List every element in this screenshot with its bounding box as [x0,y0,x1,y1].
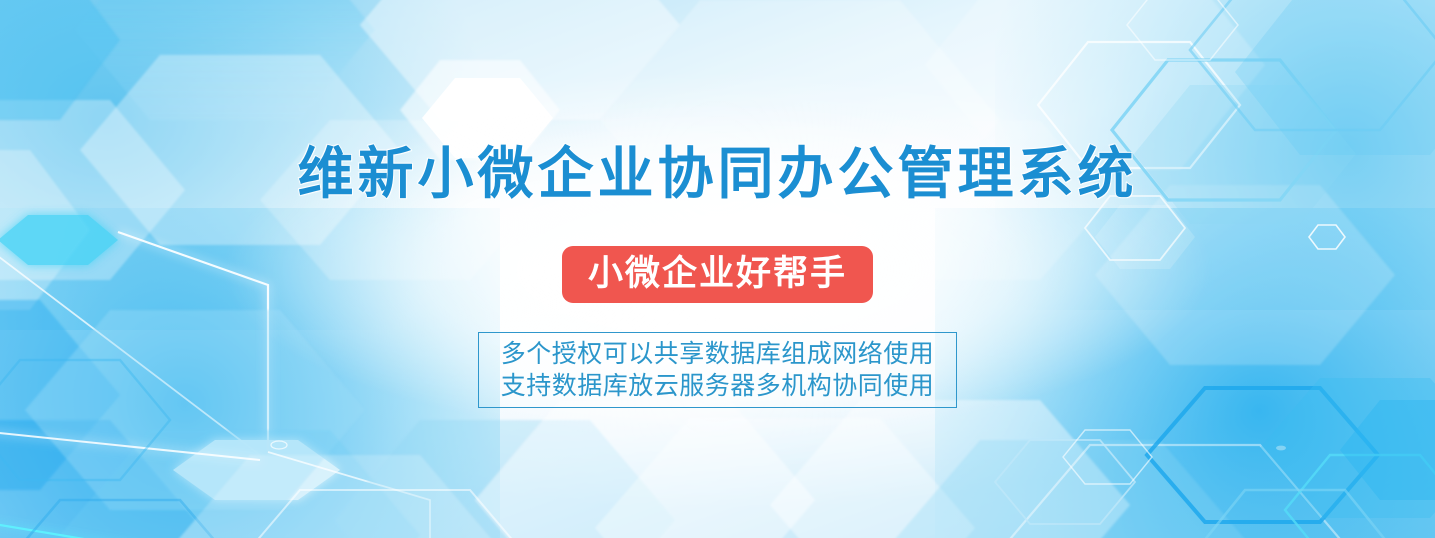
description-line-2: 支持数据库放云服务器多机构协同使用 [501,370,935,402]
banner-content: 维新小微企业协同办公管理系统 小微企业好帮手 多个授权可以共享数据库组成网络使用… [0,0,1435,538]
page-title: 维新小微企业协同办公管理系统 [0,142,1435,206]
description-row: 多个授权可以共享数据库组成网络使用 支持数据库放云服务器多机构协同使用 [0,332,1435,408]
tagline-badge: 小微企业好帮手 [562,246,873,303]
hero-banner: 维新小微企业协同办公管理系统 小微企业好帮手 多个授权可以共享数据库组成网络使用… [0,0,1435,538]
tagline-badge-row: 小微企业好帮手 [0,246,1435,303]
description-box: 多个授权可以共享数据库组成网络使用 支持数据库放云服务器多机构协同使用 [478,332,957,408]
description-line-1: 多个授权可以共享数据库组成网络使用 [501,338,935,370]
